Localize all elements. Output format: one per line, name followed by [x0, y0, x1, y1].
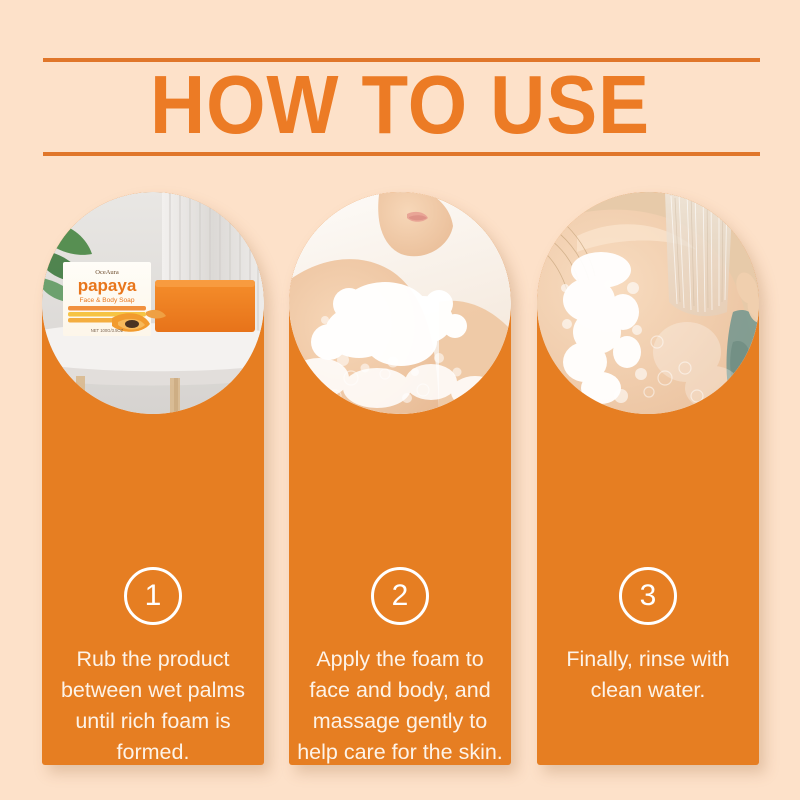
- steps-container: OceAura papaya Face & Body Soap NET 100G…: [0, 0, 800, 800]
- step-card-2: 2 Apply the foam to face and body, and m…: [289, 192, 511, 765]
- step-1-photo: OceAura papaya Face & Body Soap NET 100G…: [42, 192, 264, 414]
- step-card-3: 3 Finally, rinse with clean water.: [537, 192, 759, 765]
- step-3-photo: [537, 192, 759, 414]
- step-number-badge-3: 3: [619, 567, 677, 625]
- step-card-1: OceAura papaya Face & Body Soap NET 100G…: [42, 192, 264, 765]
- step-text-2: Apply the foam to face and body, and mas…: [297, 644, 503, 765]
- step-number-badge-1: 1: [124, 567, 182, 625]
- step-2-photo: [289, 192, 511, 414]
- svg-text:OceAura: OceAura: [95, 269, 119, 276]
- svg-text:papaya: papaya: [78, 276, 137, 295]
- step-text-1: Rub the product between wet palms until …: [50, 644, 256, 765]
- svg-text:NET 100G/3.5OZ: NET 100G/3.5OZ: [91, 328, 124, 333]
- step-number-badge-2: 2: [371, 567, 429, 625]
- step-text-3: Finally, rinse with clean water.: [545, 644, 751, 706]
- svg-text:Face & Body Soap: Face & Body Soap: [80, 297, 135, 304]
